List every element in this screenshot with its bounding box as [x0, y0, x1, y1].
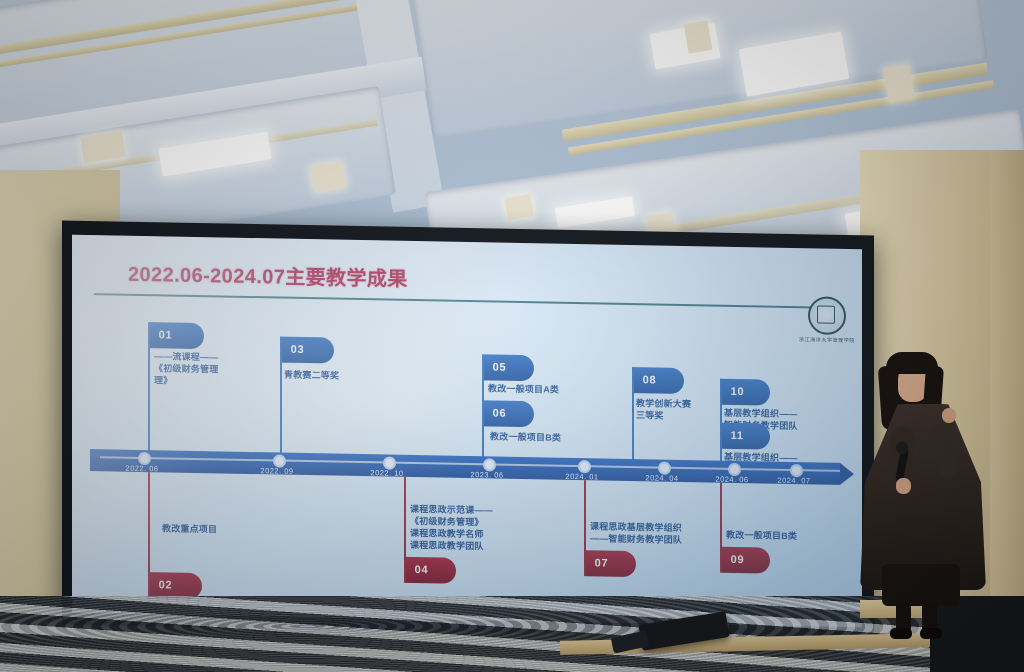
flag-label: 课程思政基层教学组织 ——智能财务教学团队	[590, 520, 726, 547]
flag-number: 05	[484, 354, 534, 381]
flag-number: 03	[282, 337, 334, 364]
flag-number: 08	[634, 367, 684, 394]
presentation-screen[interactable]: 2022.06-2024.07主要教学成果 浙江海洋大学管理学院 01 ——流课…	[72, 235, 862, 628]
timeline-tick-label: 2024. 07	[777, 476, 810, 486]
slide-title: 2022.06-2024.07主要教学成果	[128, 258, 408, 292]
presenter-shoe-left	[890, 628, 912, 639]
flag-label: ——流课程—— 《初级财务管理 理》	[154, 350, 250, 388]
timeline-tick-label: 2023. 06	[470, 470, 503, 480]
presenter	[858, 352, 988, 642]
presenter-shoe-right	[920, 628, 942, 639]
flag-label: 教改重点项目	[162, 522, 302, 537]
flag-label: 课程思政示范课—— 《初级财务管理》 课程思政教学名师 课程思政教学团队	[410, 503, 556, 554]
university-logo-text: 浙江海洋大学管理学院	[784, 336, 862, 345]
slide: 2022.06-2024.07主要教学成果 浙江海洋大学管理学院 01 ——流课…	[72, 235, 862, 628]
university-logo: 浙江海洋大学管理学院	[784, 296, 862, 344]
microphone-head	[896, 442, 908, 454]
flag-label: 教学创新大赛 三等奖	[636, 397, 732, 423]
flag-label: 教改一般项目A类	[488, 382, 596, 396]
presenter-coat	[860, 404, 986, 590]
flag-label: 教改一般项目B类	[490, 430, 598, 444]
presenter-skirt	[882, 564, 960, 606]
flag-number: 06	[484, 400, 534, 427]
ceiling-spot-light	[883, 64, 915, 102]
wall-right-edge	[990, 150, 1024, 620]
timeline-tick-label: 2022. 06	[125, 464, 158, 474]
flag-number: 01	[150, 322, 204, 349]
flag-label: 青教赛二等奖	[284, 369, 384, 383]
flag-number: 04	[406, 557, 456, 584]
flag-label: 教改一般项目B类	[726, 529, 846, 543]
ceiling-spot-light	[684, 20, 713, 54]
university-emblem-icon	[808, 296, 846, 335]
presenter-hand-right	[942, 408, 956, 423]
timeline-tick-label: 2022. 10	[370, 468, 403, 478]
presenter-hand-left	[896, 478, 911, 494]
ceiling-spot-light	[504, 194, 533, 220]
flag-number: 11	[722, 423, 770, 450]
timeline-tick-label: 2024. 04	[645, 473, 678, 483]
timeline-tick-label: 2024. 01	[565, 472, 598, 482]
flag-number: 10	[722, 379, 770, 406]
timeline-tick-label: 2022. 09	[260, 466, 293, 476]
title-divider	[94, 293, 836, 309]
flag-number: 09	[722, 547, 770, 574]
timeline-arrow-icon	[840, 463, 854, 485]
lecture-hall-photo: 2022.06-2024.07主要教学成果 浙江海洋大学管理学院 01 ——流课…	[0, 0, 1024, 672]
ceiling-spot-light	[310, 162, 346, 193]
flag-number: 07	[586, 550, 636, 577]
